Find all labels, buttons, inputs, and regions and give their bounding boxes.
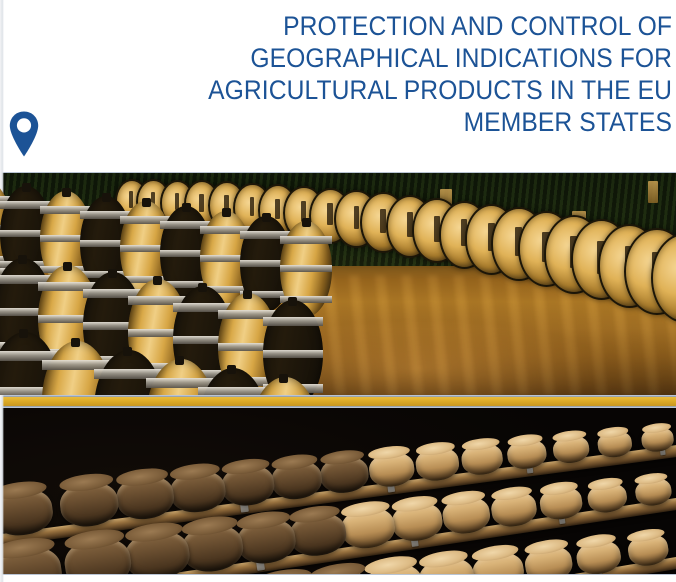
cheese-aging-cellar-photo <box>0 407 676 575</box>
barrel-bung <box>227 365 236 374</box>
presentation-slide: PROTECTION AND CONTROL OF GEOGRAPHICAL I… <box>0 0 676 582</box>
title-line-4: MEMBER STATES <box>207 106 672 138</box>
barrel-bung <box>222 208 231 217</box>
title-line-2: GEOGRAPHICAL INDICATIONS FOR <box>207 42 672 74</box>
barrel-hoop <box>280 265 332 272</box>
barrel-bung <box>153 276 162 285</box>
barrel-bung <box>62 188 71 197</box>
map-pin-icon <box>8 110 40 158</box>
barrel-bung <box>288 297 297 306</box>
barrel-bung <box>102 193 111 202</box>
page-title: PROTECTION AND CONTROL OF GEOGRAPHICAL I… <box>172 10 672 138</box>
barrel-bung <box>142 198 151 207</box>
barrel-bung <box>71 338 80 347</box>
barrel-hoop <box>280 236 332 243</box>
barrel-hoop <box>198 387 268 395</box>
slide-header: PROTECTION AND CONTROL OF GEOGRAPHICAL I… <box>0 0 676 175</box>
barrel-bung <box>302 218 311 227</box>
barrel-bung <box>18 255 27 264</box>
barrel-bung <box>63 262 72 271</box>
barrel-bung <box>19 329 28 338</box>
barrel-bung <box>243 290 252 299</box>
barrel-bung <box>279 374 288 383</box>
gold-divider-bar <box>0 397 676 406</box>
barrel-hoop <box>263 317 323 325</box>
barrel-bung <box>175 356 184 365</box>
wine-barrel-cellar-photo <box>0 172 676 396</box>
barrel-hoop <box>263 350 323 358</box>
title-line-3: AGRICULTURAL PRODUCTS IN THE EU <box>207 74 672 106</box>
barrel-bung <box>22 183 31 192</box>
title-line-1: PROTECTION AND CONTROL OF <box>207 10 672 42</box>
bottom-edge-strip <box>0 577 676 582</box>
barrel-bung <box>198 283 207 292</box>
barrel-bung <box>108 269 117 278</box>
cheese-photo-canvas <box>0 408 676 574</box>
barrel-bung <box>262 213 271 222</box>
media-band <box>0 172 676 582</box>
barrel-bung <box>123 347 132 356</box>
barrel-photo-canvas <box>0 173 676 395</box>
barrel-bung <box>182 203 191 212</box>
